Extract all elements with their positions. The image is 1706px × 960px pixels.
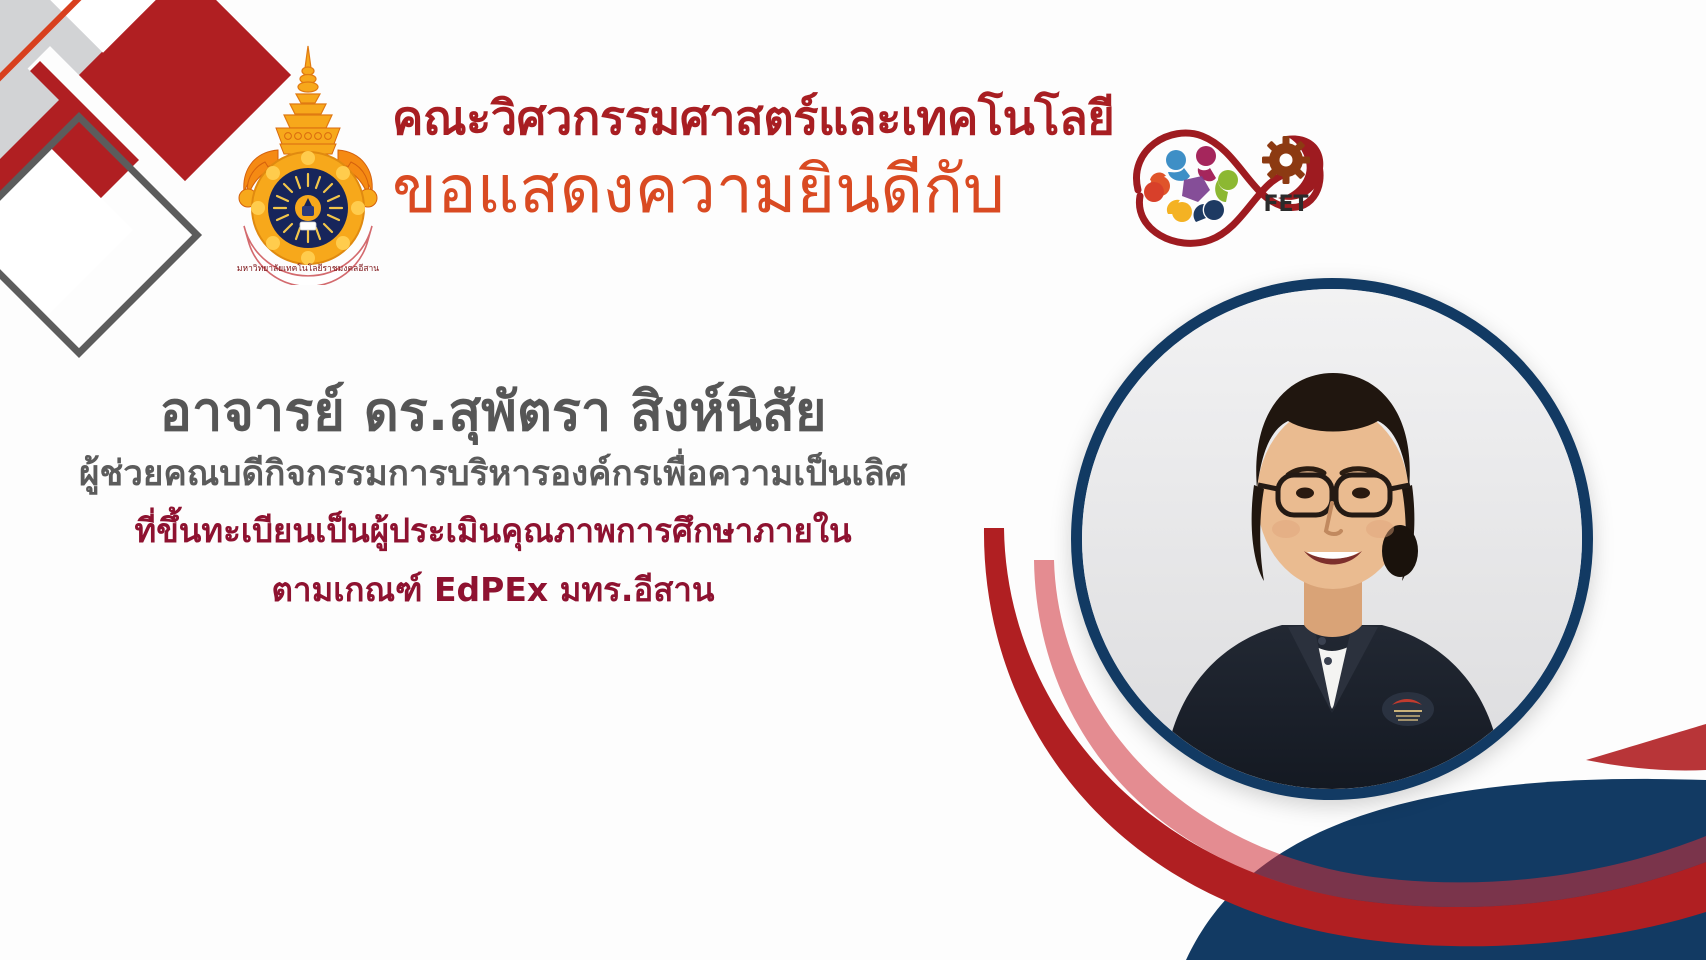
honoree-text-block: อาจารย์ ดร.สุพัตรา สิงห์นิสัย ผู้ช่วยคณบ… [78,378,908,612]
portrait-composition [886,0,1706,960]
seal-ribbon-text: มหาวิทยาลัยเทคโนโลยีราชมงคลอีสาน [237,263,379,274]
jacket-crest-badge [1382,692,1434,726]
credential-line-1: ที่ขึ้นทะเบียนเป็นผู้ประเมินคุณภาพการศึก… [78,509,908,554]
credential-line-2: ตามเกณฑ์ EdPEx มทร.อีสาน [78,568,908,613]
honoree-name: อาจารย์ ดร.สุพัตรา สิงห์นิสัย [78,378,908,446]
poster-canvas: มหาวิทยาลัยเทคโนโลยีราชมงคลอีสาน คณะวิศว… [0,0,1706,960]
honoree-portrait-photo [1082,289,1582,789]
university-seal-logo: มหาวิทยาลัยเทคโนโลยีราชมงคลอีสาน [218,40,398,285]
honoree-role: ผู้ช่วยคณบดีกิจกรรมการบริหารองค์กรเพื่อค… [78,452,908,498]
honoree-portrait-frame [1071,278,1593,800]
